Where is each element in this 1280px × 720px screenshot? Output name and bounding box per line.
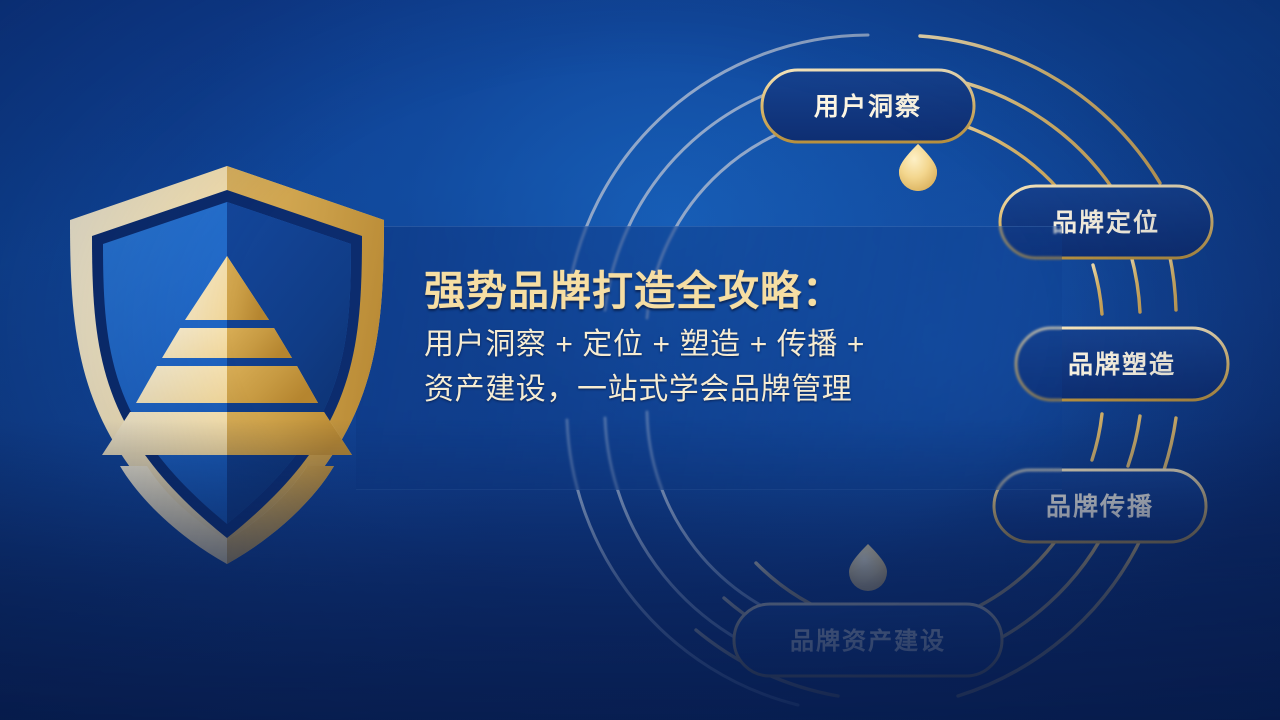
poster-canvas: 用户洞察 品牌定位 品牌塑造 品牌传播 品牌资产建设 xyxy=(0,0,1280,720)
vignette xyxy=(0,0,1280,720)
